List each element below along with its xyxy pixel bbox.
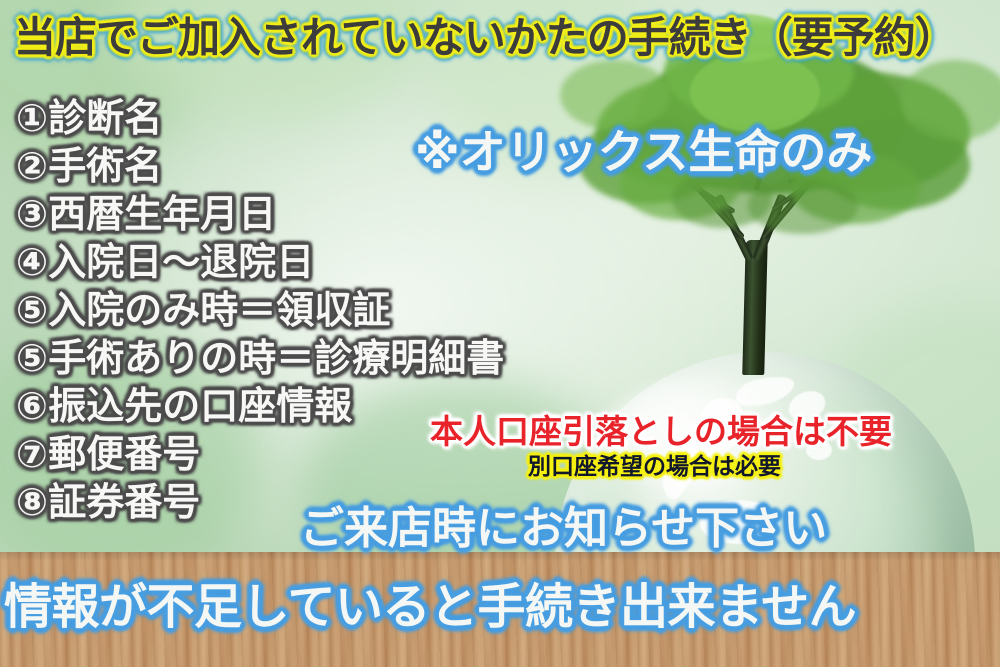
no-need-note: 本人口座引落としの場合は不要 (430, 412, 892, 452)
list-item-label: 入院日〜退院日 (48, 240, 314, 284)
list-item-marker: ⑥ (16, 384, 48, 428)
insurer-only-note: ※オリックス生命のみ (415, 125, 872, 179)
list-item: ⑥振込先の口座情報 (16, 384, 352, 428)
list-item-label: 診断名 (48, 96, 162, 140)
list-item-marker: ⑤ (16, 288, 48, 332)
list-item: ⑧証券番号 (16, 480, 200, 524)
list-item-marker: ⑤ (16, 336, 48, 380)
list-item-label: 手術名 (48, 144, 162, 188)
list-item: ⑦郵便番号 (16, 432, 200, 476)
list-item-marker: ④ (16, 240, 48, 284)
tree-canopy (748, 178, 858, 234)
list-item: ①診断名 (16, 96, 162, 140)
tree-canopy (690, 52, 820, 132)
list-item-label: 証券番号 (48, 480, 200, 524)
list-item-marker: ② (16, 144, 48, 188)
list-item-label: 振込先の口座情報 (48, 384, 352, 428)
page-title: 当店でご加入されていないかたの手続き（要予約） (14, 13, 956, 63)
list-item-marker: ① (16, 96, 48, 140)
poster-root: 当店でご加入されていないかたの手続き（要予約） ①診断名 ②手術名 ③西暦生年月… (0, 0, 1000, 667)
shortage-warning-note: 情報が不足していると手続き出来ません (4, 578, 856, 636)
list-item: ②手術名 (16, 144, 162, 188)
visit-request-note: ご来店時にお知らせ下さい (300, 503, 827, 555)
list-item-marker: ⑧ (16, 480, 48, 524)
list-item-label: 手術ありの時＝診療明細書 (48, 336, 504, 380)
list-item: ⑤入院のみ時＝領収証 (16, 288, 390, 332)
list-item: ⑤手術ありの時＝診療明細書 (16, 336, 504, 380)
list-item: ④入院日〜退院日 (16, 240, 314, 284)
tree-canopy (560, 60, 670, 130)
list-item-label: 入院のみ時＝領収証 (48, 288, 390, 332)
alt-account-note: 別口座希望の場合は必要 (528, 452, 781, 482)
list-item-label: 郵便番号 (48, 432, 200, 476)
list-item-marker: ⑦ (16, 432, 48, 476)
list-item-label: 西暦生年月日 (48, 192, 276, 236)
list-item-marker: ③ (16, 192, 48, 236)
list-item: ③西暦生年月日 (16, 192, 276, 236)
tree-canopy (900, 60, 1000, 140)
